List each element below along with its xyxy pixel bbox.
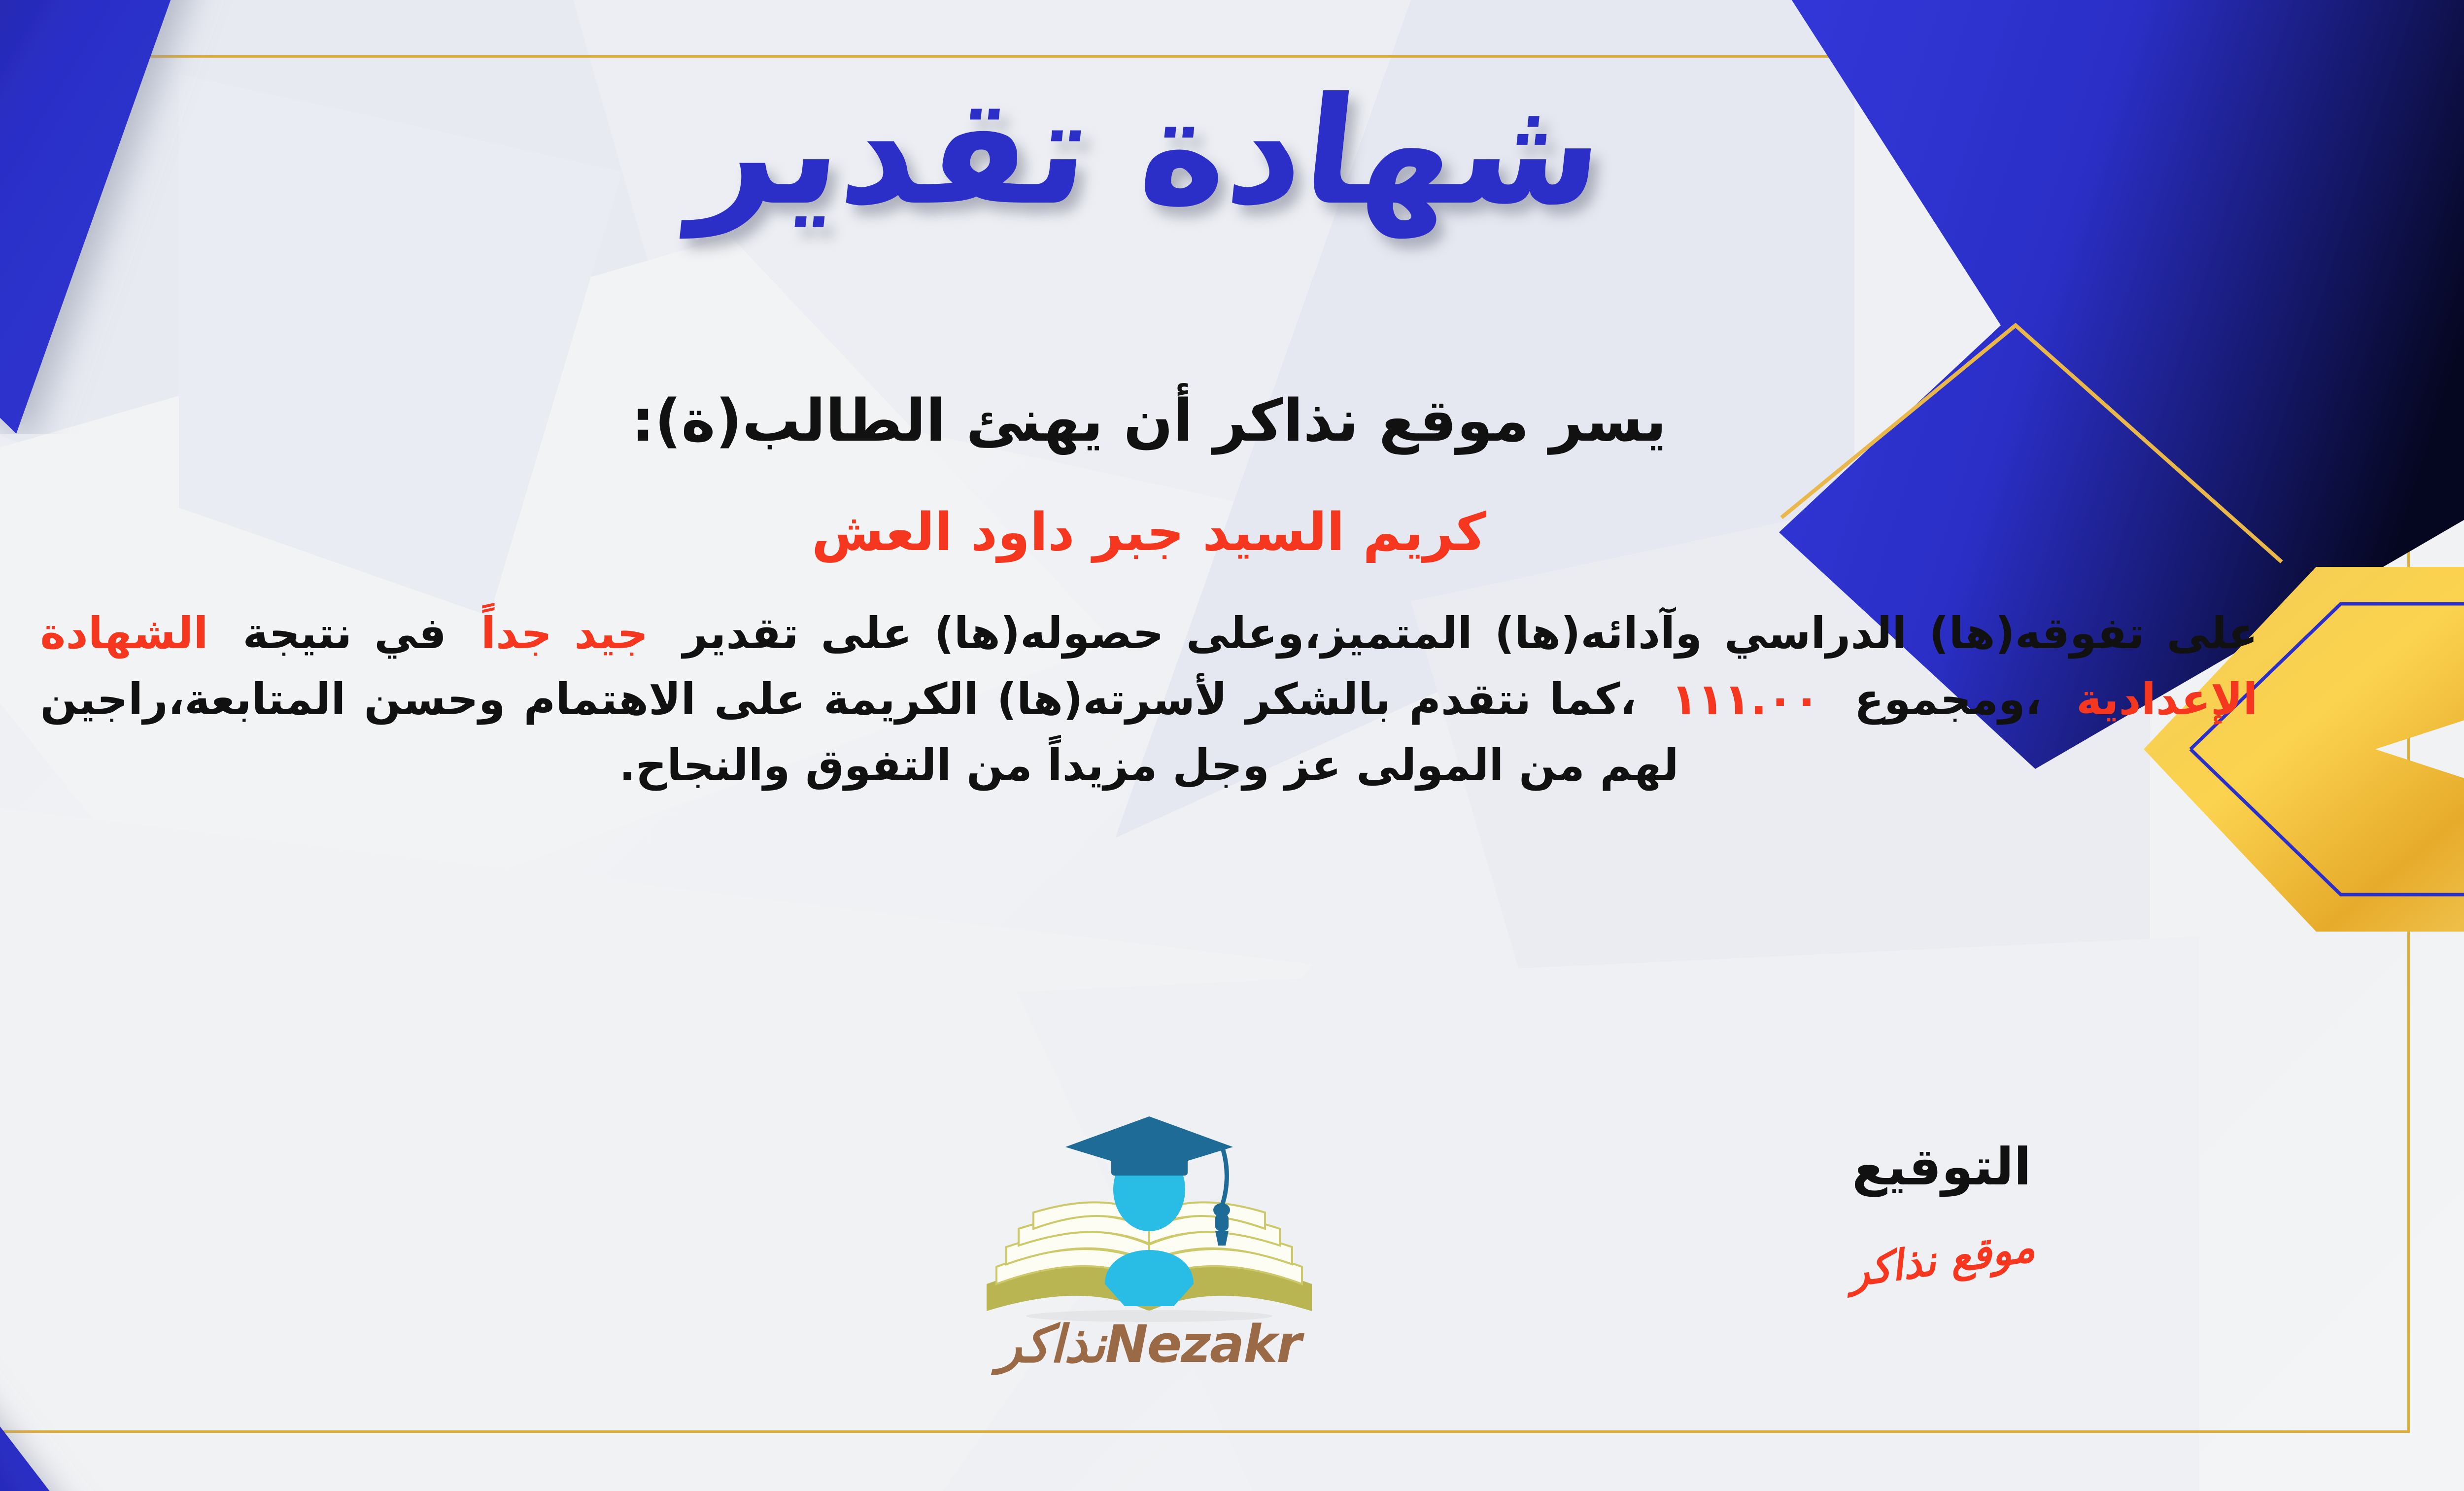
student-name: كريم السيد جبر داود العش — [0, 500, 2346, 565]
signature-label: التوقيع — [1814, 1141, 2070, 1192]
graduate-on-open-book-logo-icon — [957, 1111, 1341, 1323]
certificate-canvas: شهادة تقدير يسر موقع نذاكر أن يهنئ الطال… — [0, 0, 2464, 1491]
congratulation-lead-line: يسر موقع نذاكر أن يهنئ الطالب(ة): — [0, 384, 2346, 457]
paragraph-segment-2: في نتيجة — [243, 608, 446, 659]
logo-wordmark-ar: نذاكر — [997, 1314, 1105, 1374]
certificate-footer: التوقيع موقع نذاكر — [0, 1111, 2385, 1417]
brand-logo: Nezakrنذاكر — [957, 1111, 1341, 1370]
total-score: ١١١.٠٠ — [1671, 674, 1820, 725]
logo-wordmark: Nezakrنذاكر — [957, 1318, 1341, 1370]
certificate-body: يسر موقع نذاكر أن يهنئ الطالب(ة): كريم ا… — [0, 384, 2346, 798]
signature-mark: موقع نذاكر — [1846, 1222, 2038, 1296]
page-title: شهادة تقدير — [687, 74, 1611, 229]
paragraph-segment-1: على تفوقه(ها) الدراسي وآدائه(ها) المتميز… — [683, 608, 2258, 659]
signature-block: التوقيع موقع نذاكر — [1814, 1141, 2070, 1283]
logo-wordmark-en: Nezakr — [1105, 1314, 1301, 1374]
paragraph-segment-3: ،ومجموع — [1854, 674, 2042, 725]
paragraph-segment-4: ،كما نتقدم بالشكر لأسرته(ها) الكريمة على… — [40, 674, 1679, 791]
certificate-title-container: شهادة تقدير — [0, 74, 2464, 229]
grade-value: جيد جداً — [481, 608, 649, 659]
certificate-paragraph: على تفوقه(ها) الدراسي وآدائه(ها) المتميز… — [40, 600, 2258, 798]
